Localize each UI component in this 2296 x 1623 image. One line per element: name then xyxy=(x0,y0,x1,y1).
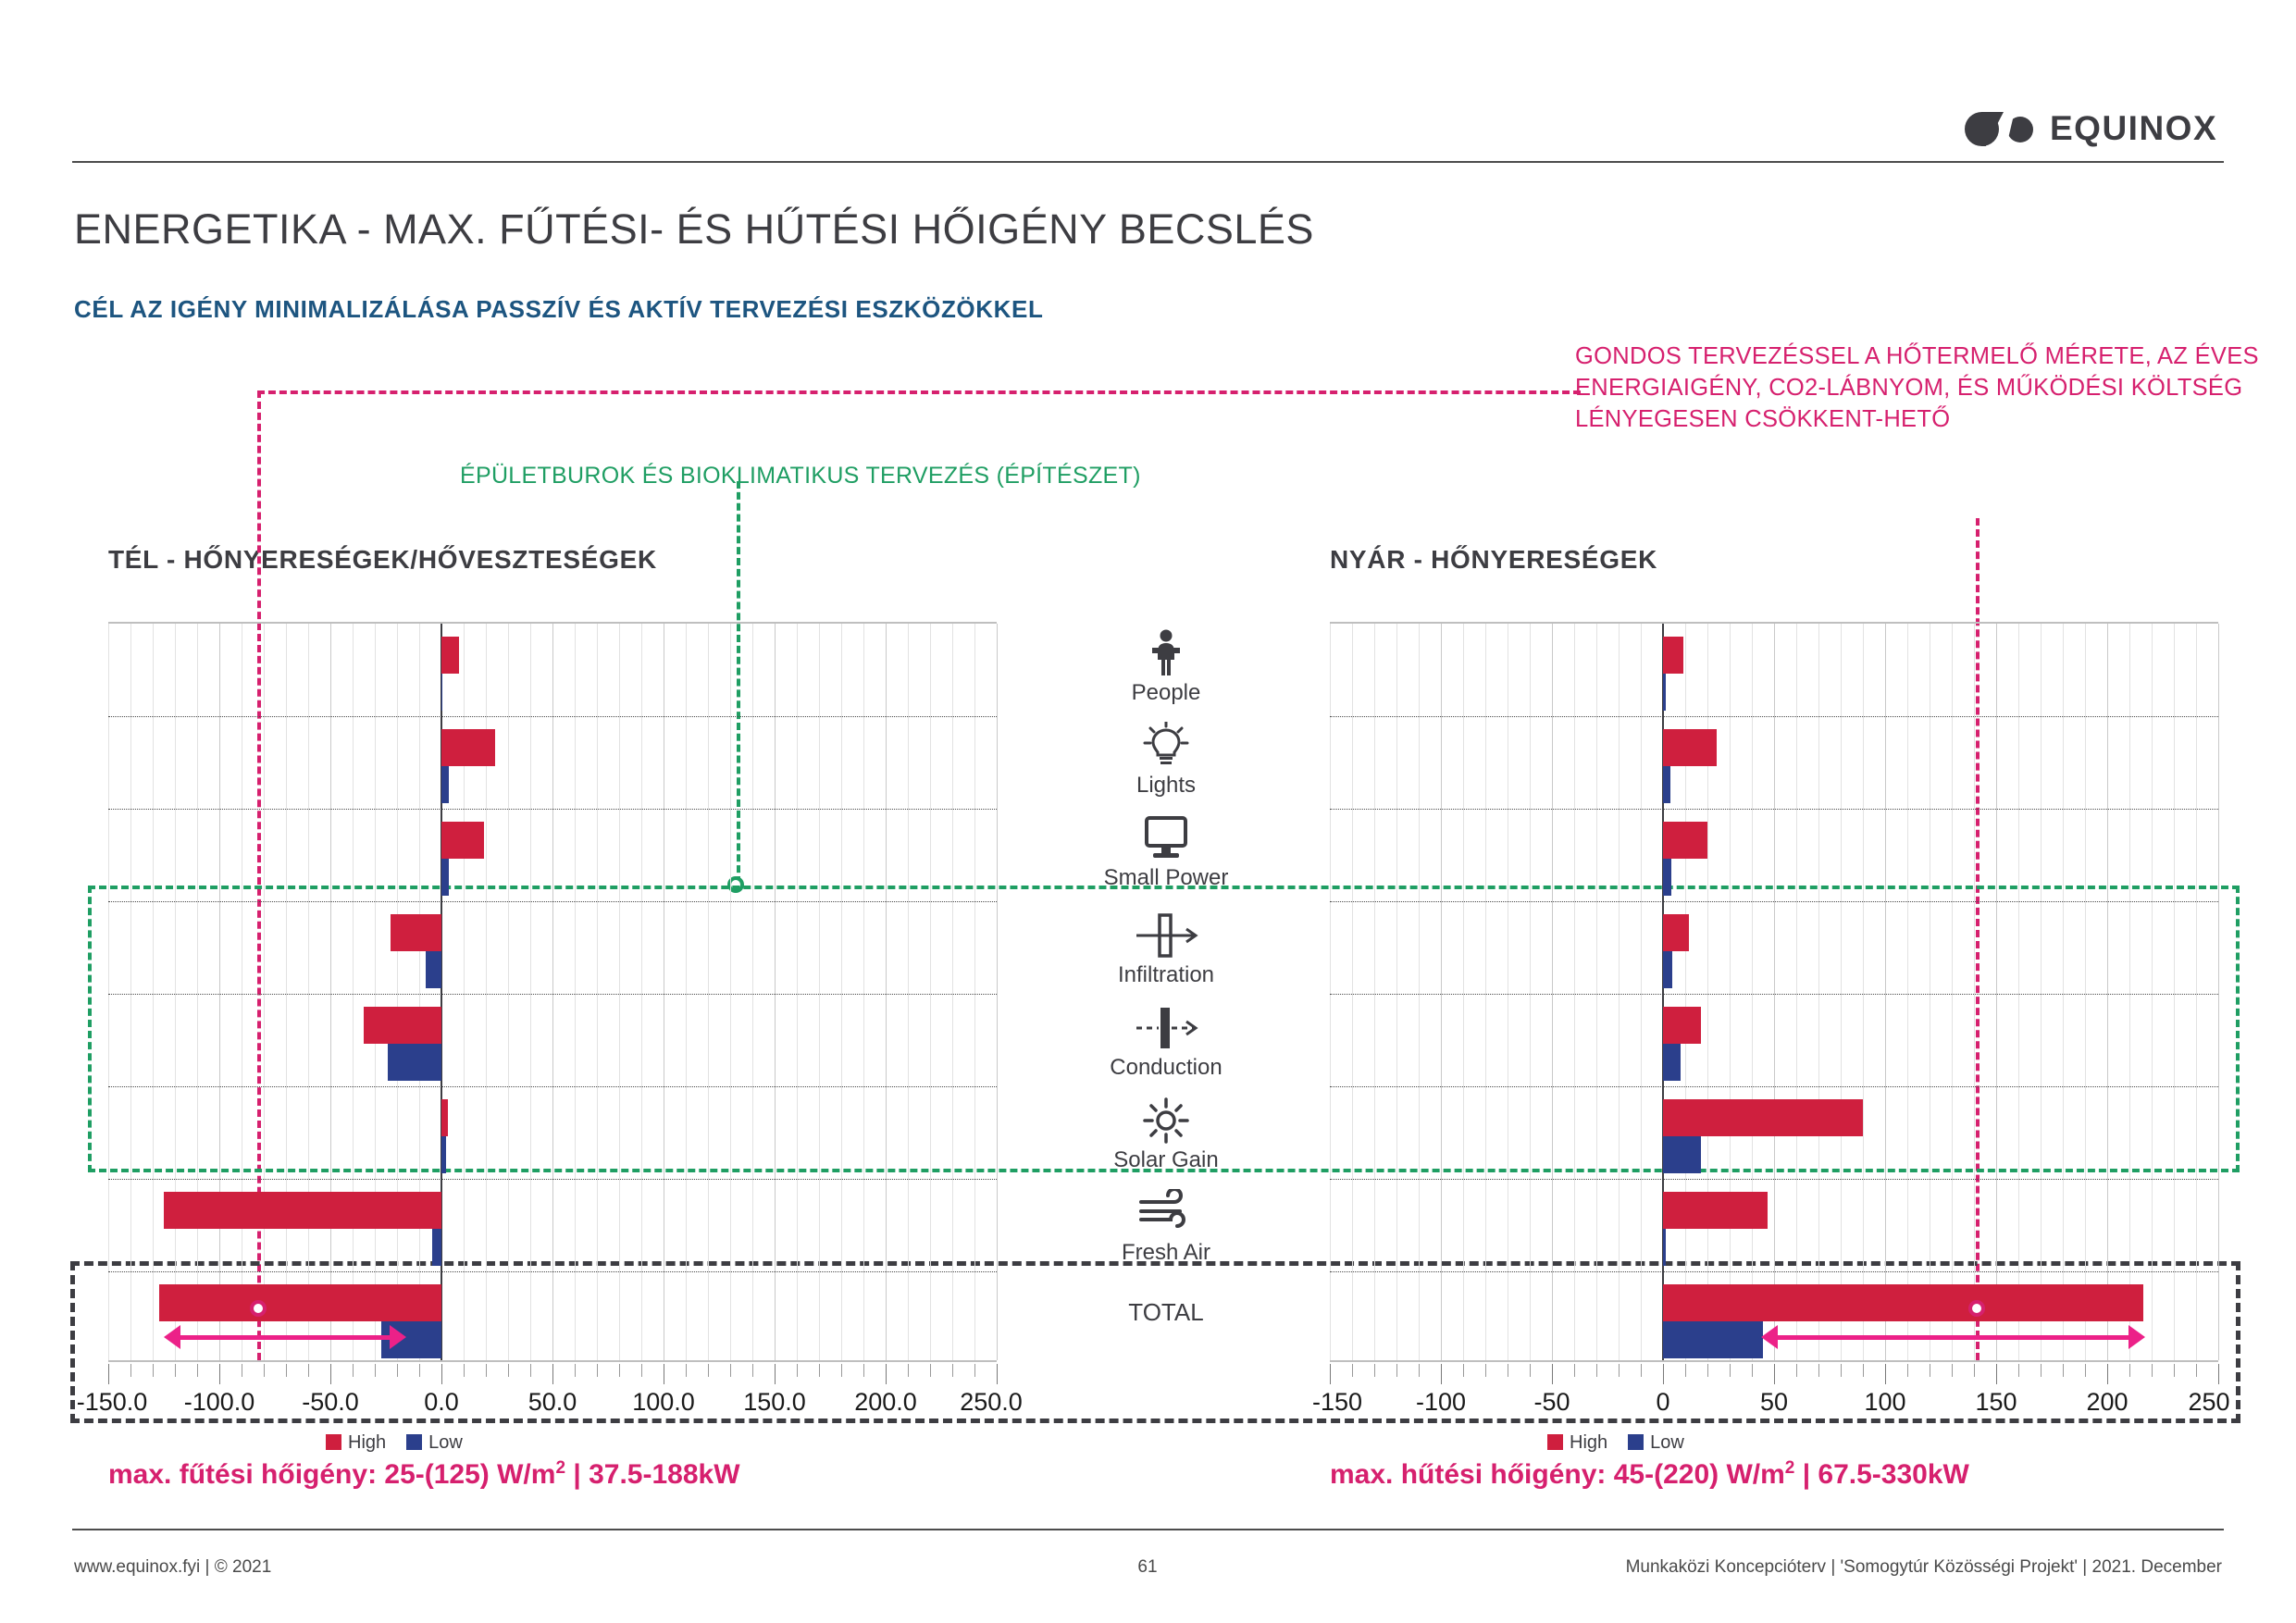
winter-summary-sup: 2 xyxy=(555,1458,565,1478)
summer-tick-4: 50 xyxy=(1760,1388,1788,1417)
bar-winter-infiltration-high xyxy=(391,914,441,951)
winter-panel-title: TÉL - HŐNYERESÉGEK/HŐVESZTESÉGEK xyxy=(108,545,657,575)
equinox-logo-icon xyxy=(1965,110,2033,147)
footer-left: www.equinox.fyi | © 2021 xyxy=(74,1557,271,1578)
bar-summer-people-low xyxy=(1663,674,1666,711)
category-fresh-air: Fresh Air xyxy=(1046,1189,1286,1266)
legend-label-low: Low xyxy=(428,1432,463,1453)
legend-swatch-low xyxy=(1628,1434,1644,1450)
winter-summary-suffix: | 37.5-188kW xyxy=(565,1459,740,1490)
page-subtitle: CÉL AZ IGÉNY MINIMALIZÁLÁSA PASSZÍV ÉS A… xyxy=(74,295,1043,324)
summer-tick-8: 250 xyxy=(2188,1388,2229,1417)
legend-item-high: High xyxy=(1547,1432,1607,1454)
bar-winter-solargain-low xyxy=(441,1136,446,1173)
conduction-arrow-icon xyxy=(1046,1004,1286,1052)
summer-summary-suffix: | 67.5-330kW xyxy=(1794,1459,1969,1490)
bar-summer-smallpower-low xyxy=(1663,859,1671,896)
winter-tick-4: 50.0 xyxy=(528,1388,577,1417)
bar-winter-conduction-low xyxy=(388,1044,441,1081)
person-icon xyxy=(1046,629,1286,677)
summer-tick-2: -50 xyxy=(1533,1388,1570,1417)
bar-summer-freshair-low xyxy=(1663,1229,1666,1266)
category-infiltration: Infiltration xyxy=(1046,911,1286,988)
footer-divider xyxy=(72,1529,2224,1530)
winter-range-marker xyxy=(250,1300,267,1317)
footer-right: Munkaközi Koncepcióterv | 'Somogytúr Köz… xyxy=(1626,1557,2222,1578)
bar-winter-conduction-high xyxy=(364,1007,441,1044)
winter-plot-area xyxy=(108,622,997,1362)
bar-summer-conduction-low xyxy=(1663,1044,1681,1081)
winter-tick-7: 200.0 xyxy=(854,1388,917,1417)
summer-tick-5: 100 xyxy=(1864,1388,1905,1417)
summer-summary: max. hűtési hőigény: 45-(220) W/m2 | 67.… xyxy=(1330,1458,1969,1491)
summer-range-marker xyxy=(1968,1300,1985,1317)
category-solar-gain: Solar Gain xyxy=(1046,1096,1286,1173)
legend-item-low: Low xyxy=(406,1432,463,1454)
category-label: Conduction xyxy=(1046,1055,1286,1081)
page-title: ENERGETIKA - MAX. FŰTÉSI- ÉS HŰTÉSI HŐIG… xyxy=(74,205,1314,254)
sun-icon xyxy=(1046,1096,1286,1145)
bar-winter-solargain-high xyxy=(441,1099,448,1136)
bar-winter-smallpower-high xyxy=(441,822,484,859)
summer-panel-title: NYÁR - HŐNYERESÉGEK xyxy=(1330,545,1657,575)
legend-swatch-low xyxy=(406,1434,422,1450)
category-label: Infiltration xyxy=(1046,962,1286,988)
legend-swatch-high xyxy=(1547,1434,1563,1450)
winter-tick-3: 0.0 xyxy=(424,1388,459,1417)
winter-summary: max. fűtési hőigény: 25-(125) W/m2 | 37.… xyxy=(108,1458,740,1491)
infiltration-arrow-icon xyxy=(1046,911,1286,960)
category-label: TOTAL xyxy=(1046,1298,1286,1327)
category-label: Fresh Air xyxy=(1046,1240,1286,1266)
bar-winter-total-high xyxy=(159,1284,441,1321)
wind-icon xyxy=(1046,1189,1286,1237)
bar-summer-total-low xyxy=(1663,1321,1763,1358)
category-label: People xyxy=(1046,680,1286,706)
category-small-power: Small Power xyxy=(1046,814,1286,891)
category-label: Lights xyxy=(1046,773,1286,799)
winter-range-arrow xyxy=(164,1325,406,1349)
bar-winter-infiltration-low xyxy=(426,951,441,988)
legend-label-high: High xyxy=(348,1432,386,1453)
monitor-icon xyxy=(1046,814,1286,862)
bar-summer-smallpower-high xyxy=(1663,822,1707,859)
brand-logo: EQUINOX xyxy=(1965,109,2217,148)
bar-summer-infiltration-low xyxy=(1663,951,1672,988)
category-label: Solar Gain xyxy=(1046,1147,1286,1173)
category-lights: Lights xyxy=(1046,722,1286,799)
bar-winter-freshair-low xyxy=(432,1229,441,1266)
legend-swatch-high xyxy=(326,1434,341,1450)
summer-tick-3: 0 xyxy=(1656,1388,1669,1417)
summer-summary-prefix: max. hűtési hőigény: 45-(220) W/m xyxy=(1330,1459,1785,1490)
legend-label-high: High xyxy=(1570,1432,1607,1453)
legend-item-high: High xyxy=(326,1432,386,1454)
summer-tick-1: -100 xyxy=(1416,1388,1466,1417)
winter-legend: High Low xyxy=(326,1432,463,1454)
category-label: Small Power xyxy=(1046,865,1286,891)
category-total: TOTAL xyxy=(1046,1295,1286,1327)
legend-label-low: Low xyxy=(1650,1432,1684,1453)
footer-page-number: 61 xyxy=(1137,1557,1157,1578)
summer-summary-sup: 2 xyxy=(1785,1458,1795,1478)
brand-name: EQUINOX xyxy=(2050,109,2217,148)
green-annotation-text: ÉPÜLETBUROK ÉS BIOKLIMATIKUS TERVEZÉS (É… xyxy=(460,463,1141,489)
bar-winter-lights-high xyxy=(441,729,495,766)
category-people: People xyxy=(1046,629,1286,706)
bar-summer-freshair-high xyxy=(1663,1192,1768,1229)
lightbulb-icon xyxy=(1046,722,1286,770)
bar-winter-freshair-high xyxy=(164,1192,441,1229)
summer-x-axis: -150 -100 -50 0 50 100 150 200 250 xyxy=(1330,1364,2218,1384)
bar-summer-lights-low xyxy=(1663,766,1670,803)
winter-tick-1: -100.0 xyxy=(184,1388,255,1417)
summer-range-arrow xyxy=(1761,1325,2145,1349)
bar-summer-conduction-high xyxy=(1663,1007,1701,1044)
winter-summary-prefix: max. fűtési hőigény: 25-(125) W/m xyxy=(108,1459,555,1490)
winter-tick-5: 100.0 xyxy=(632,1388,695,1417)
bar-winter-lights-low xyxy=(441,766,449,803)
winter-x-axis: -150.0 -100.0 -50.0 0.0 50.0 100.0 150.0… xyxy=(108,1364,997,1384)
bar-summer-lights-high xyxy=(1663,729,1717,766)
legend-item-low: Low xyxy=(1628,1432,1684,1454)
winter-chart: -150.0 -100.0 -50.0 0.0 50.0 100.0 150.0… xyxy=(108,622,997,1362)
bar-summer-solargain-high xyxy=(1663,1099,1863,1136)
bar-summer-infiltration-high xyxy=(1663,914,1689,951)
header-divider xyxy=(72,161,2224,163)
bar-winter-smallpower-low xyxy=(441,859,449,896)
summer-legend: High Low xyxy=(1547,1432,1684,1454)
summer-plot-area xyxy=(1330,622,2218,1362)
bar-summer-solargain-low xyxy=(1663,1136,1701,1173)
winter-tick-2: -50.0 xyxy=(302,1388,359,1417)
bar-summer-people-high xyxy=(1663,637,1683,674)
winter-tick-8: 250.0 xyxy=(960,1388,1023,1417)
bar-winter-people-high xyxy=(441,637,459,674)
summer-tick-6: 150 xyxy=(1975,1388,2017,1417)
summer-tick-0: -150 xyxy=(1312,1388,1362,1417)
pink-annotation-text: GONDOS TERVEZÉSSEL A HŐTERMELŐ MÉRETE, A… xyxy=(1575,341,2296,435)
bar-winter-people-low xyxy=(441,674,442,711)
slide-page: EQUINOX ENERGETIKA - MAX. FŰTÉSI- ÉS HŰT… xyxy=(0,0,2296,1623)
bar-summer-total-high xyxy=(1663,1284,2143,1321)
winter-tick-6: 150.0 xyxy=(743,1388,806,1417)
pink-guide-horizontal xyxy=(257,390,1581,394)
summer-chart: -150 -100 -50 0 50 100 150 200 250 High … xyxy=(1330,622,2218,1362)
winter-tick-0: -150.0 xyxy=(77,1388,148,1417)
summer-tick-7: 200 xyxy=(2086,1388,2128,1417)
category-conduction: Conduction xyxy=(1046,1004,1286,1081)
